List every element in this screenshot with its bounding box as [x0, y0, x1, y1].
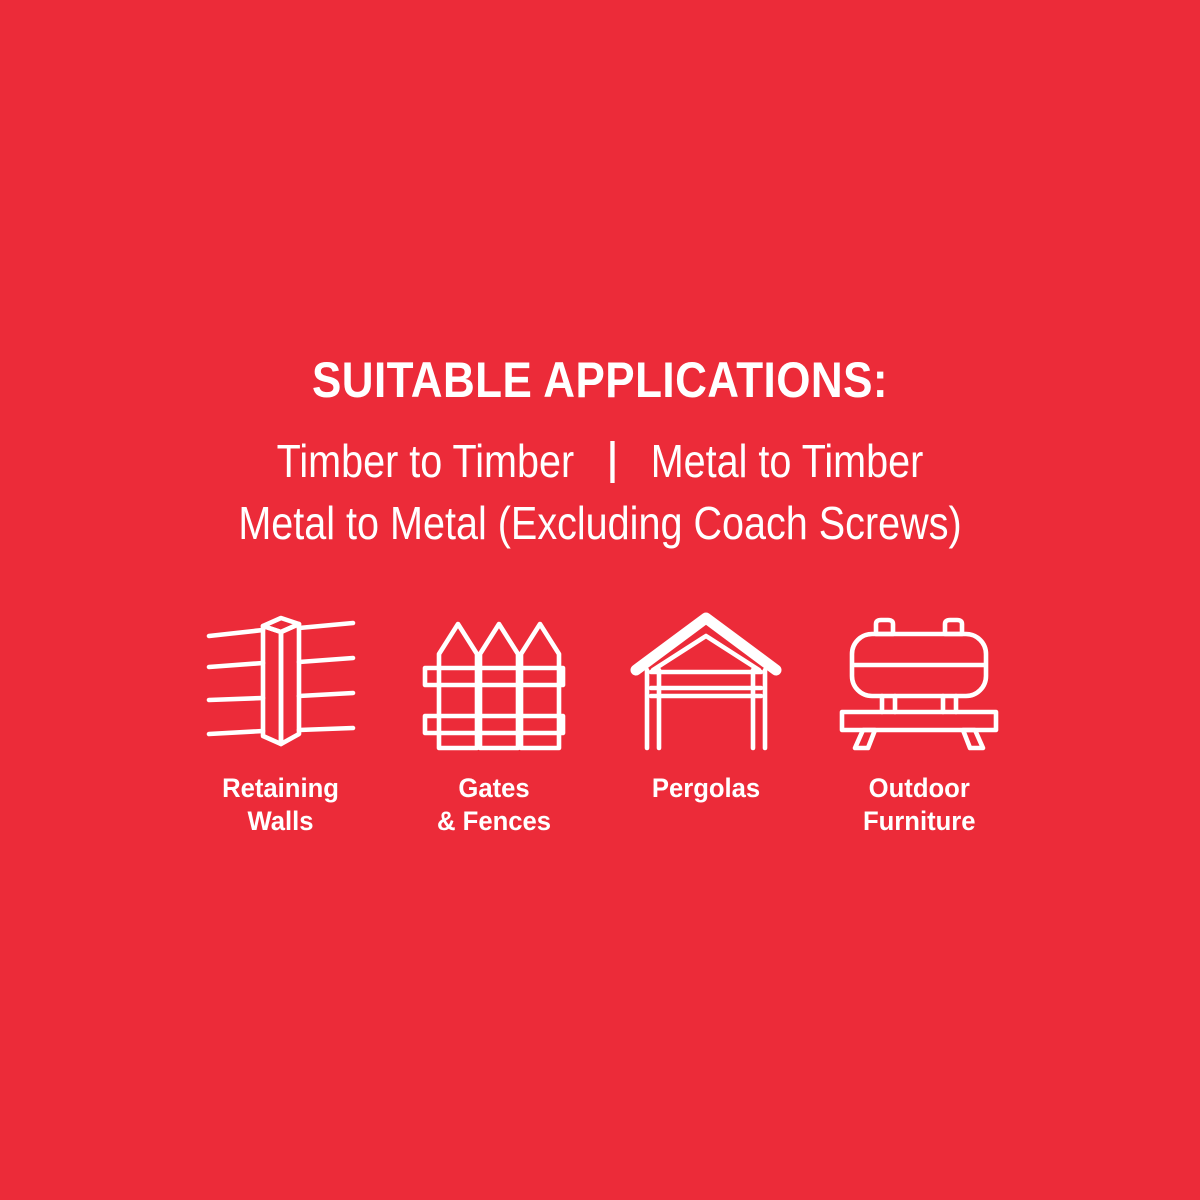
application-label-outdoor-furniture: Outdoor Furniture [863, 772, 976, 838]
application-item-pergolas: Pergolas [600, 612, 812, 805]
application-label-pergolas: Pergolas [652, 772, 760, 805]
application-icon-row: Retaining Walls Gates & Fences [175, 612, 1025, 838]
page-title: SUITABLE APPLICATIONS: [72, 352, 1128, 408]
application-label-retaining-walls: Retaining Walls [223, 772, 340, 838]
retaining-wall-icon [201, 612, 361, 752]
pergola-icon [626, 612, 786, 752]
vertical-divider-icon [610, 441, 614, 483]
applications-line-2: Metal to Metal (Excluding Coach Screws) [84, 492, 1116, 554]
application-label-gates-fences: Gates & Fences [437, 772, 551, 838]
application-item-gates-fences: Gates & Fences [388, 612, 600, 838]
picket-fence-icon-svg [418, 612, 570, 752]
application-item-retaining-walls: Retaining Walls [175, 612, 387, 838]
application-item-outdoor-furniture: Outdoor Furniture [813, 612, 1025, 838]
bench-icon [835, 612, 1003, 752]
pergola-icon-svg [626, 612, 786, 752]
suitable-applications-poster: SUITABLE APPLICATIONS: Timber to TimberM… [0, 0, 1200, 1200]
heading-block: SUITABLE APPLICATIONS: Timber to TimberM… [0, 352, 1200, 554]
application-metal-to-timber: Metal to Timber [651, 430, 924, 492]
application-timber-to-timber: Timber to Timber [277, 430, 574, 492]
bench-icon-svg [835, 612, 1003, 752]
picket-fence-icon [418, 612, 570, 752]
applications-line-1: Timber to TimberMetal to Timber [84, 430, 1116, 492]
retaining-wall-icon-svg [201, 612, 361, 752]
